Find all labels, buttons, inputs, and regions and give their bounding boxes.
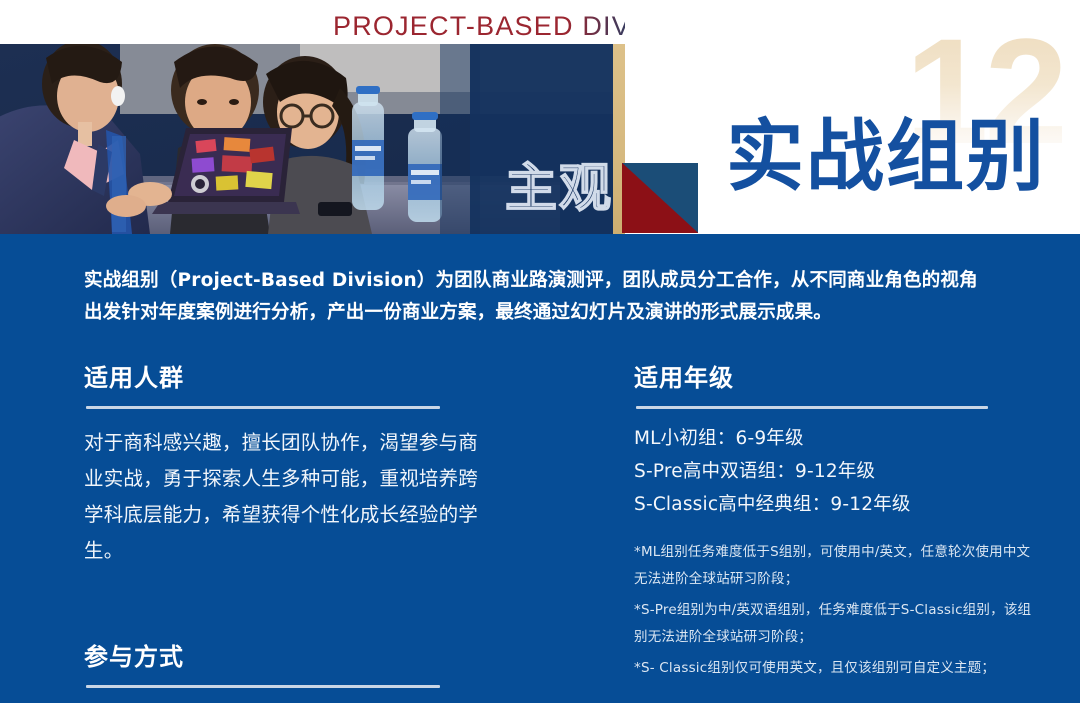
grade-note: *S- Classic组别仅可使用英文，且仅该组别可自定义主题；: [634, 655, 1034, 682]
participation-section: 参与方式 团队参与（3-4人/队） *组队不限年级、学校、城市、地区: [84, 643, 484, 703]
intro-paragraph: 实战组别（Project-Based Division）为团队商业路演测评，团队…: [84, 265, 994, 329]
grade-item: ML小初组：6-9年级: [634, 423, 1034, 456]
section-title-target-audience: 适用人群: [84, 364, 484, 393]
page-title: 实战组别: [726, 118, 1046, 196]
left-column: 适用人群 对于商科感兴趣，擅长团队协作，渴望参与商业实战，勇于探索人生多种可能，…: [84, 364, 484, 703]
grade-note: *ML组别任务难度低于S组别，可使用中/英文，任意轮次使用中文无法进阶全球站研习…: [634, 539, 1034, 593]
header-banner: PROJECT-BASED DIVISION 12 主观 实战组别: [0, 0, 1080, 234]
poster-page: PROJECT-BASED DIVISION 12 主观 实战组别 实战组别（P…: [0, 0, 1080, 703]
grade-notes: *ML组别任务难度低于S组别，可使用中/英文，任意轮次使用中文无法进阶全球站研习…: [634, 539, 1034, 682]
section-title-grades: 适用年级: [634, 364, 1034, 393]
section-divider: [636, 406, 988, 409]
section-divider: [86, 685, 440, 688]
target-audience-text: 对于商科感兴趣，擅长团队协作，渴望参与商业实战，勇于探索人生多种可能，重视培养跨…: [84, 425, 484, 569]
grade-list: ML小初组：6-9年级 S-Pre高中双语组：9-12年级 S-Classic高…: [634, 423, 1034, 522]
triangle-accent-block: [622, 163, 698, 233]
grade-note: *S-Pre组别为中/英双语组别，任务难度低于S-Classic组别，该组别无法…: [634, 597, 1034, 651]
right-column: 适用年级 ML小初组：6-9年级 S-Pre高中双语组：9-12年级 S-Cla…: [634, 364, 1034, 686]
grade-item: S-Pre高中双语组：9-12年级: [634, 456, 1034, 489]
subjective-watermark-label: 主观: [505, 163, 613, 215]
content-panel: 实战组别（Project-Based Division）为团队商业路演测评，团队…: [0, 234, 1080, 703]
grade-item: S-Classic高中经典组：9-12年级: [634, 489, 1034, 522]
red-triangle: [622, 163, 698, 233]
section-title-participation: 参与方式: [84, 643, 484, 672]
section-divider: [86, 406, 440, 409]
